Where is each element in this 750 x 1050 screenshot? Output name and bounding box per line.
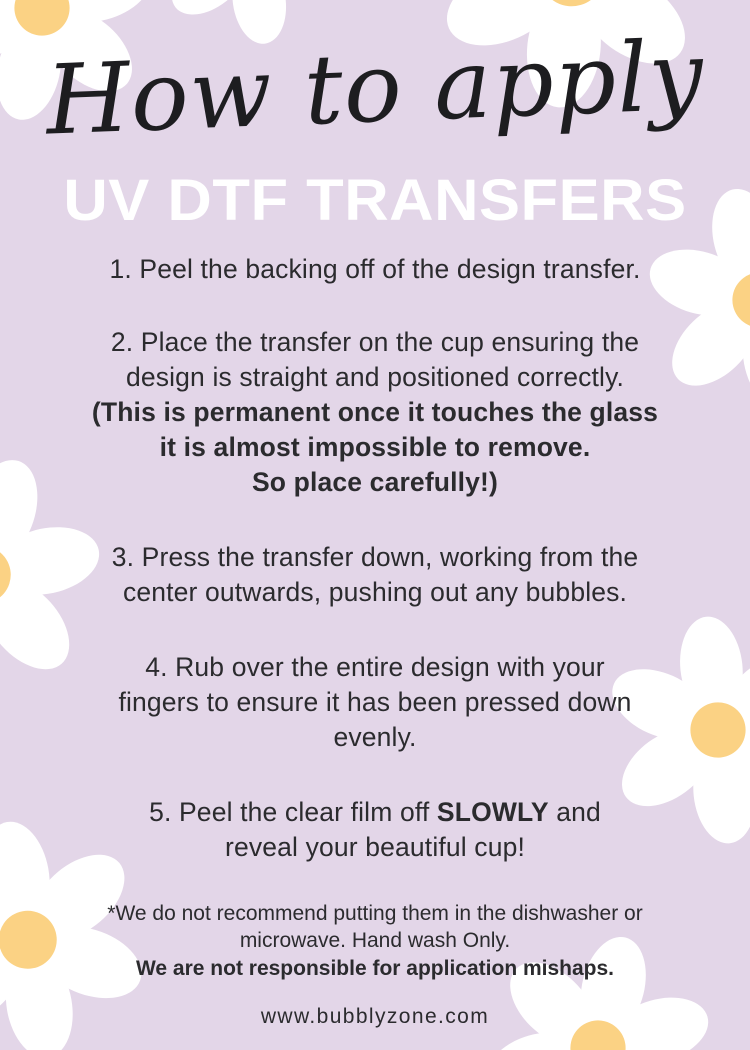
step-4: 4. Rub over the entire design with your … bbox=[30, 650, 720, 755]
step-2-line-3: (This is permanent once it touches the g… bbox=[92, 397, 658, 427]
step-3-line-2: center outwards, pushing out any bubbles… bbox=[123, 577, 627, 607]
step-5-emphasis-slowly: SLOWLY bbox=[437, 797, 549, 827]
step-4-line-2: fingers to ensure it has been pressed do… bbox=[118, 687, 631, 717]
step-1: 1. Peel the backing off of the design tr… bbox=[30, 252, 720, 287]
step-2-line-5: So place carefully!) bbox=[252, 467, 498, 497]
step-2-line-2: design is straight and positioned correc… bbox=[126, 362, 624, 392]
step-5-line-1-before: 5. Peel the clear film off bbox=[149, 797, 437, 827]
step-1-line-1: 1. Peel the backing off of the design tr… bbox=[109, 254, 640, 284]
disclaimer-line-2: microwave. Hand wash Only. bbox=[240, 929, 510, 952]
website-url[interactable]: www.bubblyzone.com bbox=[0, 1005, 750, 1029]
care-disclaimer: *We do not recommend putting them in the… bbox=[34, 900, 716, 982]
step-5-line-2: reveal your beautiful cup! bbox=[225, 832, 525, 862]
step-5-line-1-after: and bbox=[549, 797, 601, 827]
spacer bbox=[30, 781, 720, 795]
disclaimer-line-1: *We do not recommend putting them in the… bbox=[107, 902, 642, 925]
spacer bbox=[30, 526, 720, 540]
page-subtitle: UV DTF TRANSFERS bbox=[0, 172, 750, 230]
instruction-steps-list: 1. Peel the backing off of the design tr… bbox=[30, 252, 720, 891]
step-5: 5. Peel the clear film off SLOWLY and re… bbox=[30, 795, 720, 865]
page-script-title: How to apply bbox=[0, 24, 750, 154]
step-2: 2. Place the transfer on the cup ensurin… bbox=[30, 325, 720, 500]
step-2-line-1: 2. Place the transfer on the cup ensurin… bbox=[111, 327, 639, 357]
spacer bbox=[30, 636, 720, 650]
step-3: 3. Press the transfer down, working from… bbox=[30, 540, 720, 610]
poster-canvas: How to apply UV DTF TRANSFERS 1. Peel th… bbox=[0, 0, 750, 1050]
disclaimer-line-3: We are not responsible for application m… bbox=[136, 957, 614, 980]
step-3-line-1: 3. Press the transfer down, working from… bbox=[112, 542, 639, 572]
step-2-line-4: it is almost impossible to remove. bbox=[160, 432, 591, 462]
step-4-line-3: evenly. bbox=[333, 722, 416, 752]
step-4-line-1: 4. Rub over the entire design with your bbox=[145, 652, 605, 682]
